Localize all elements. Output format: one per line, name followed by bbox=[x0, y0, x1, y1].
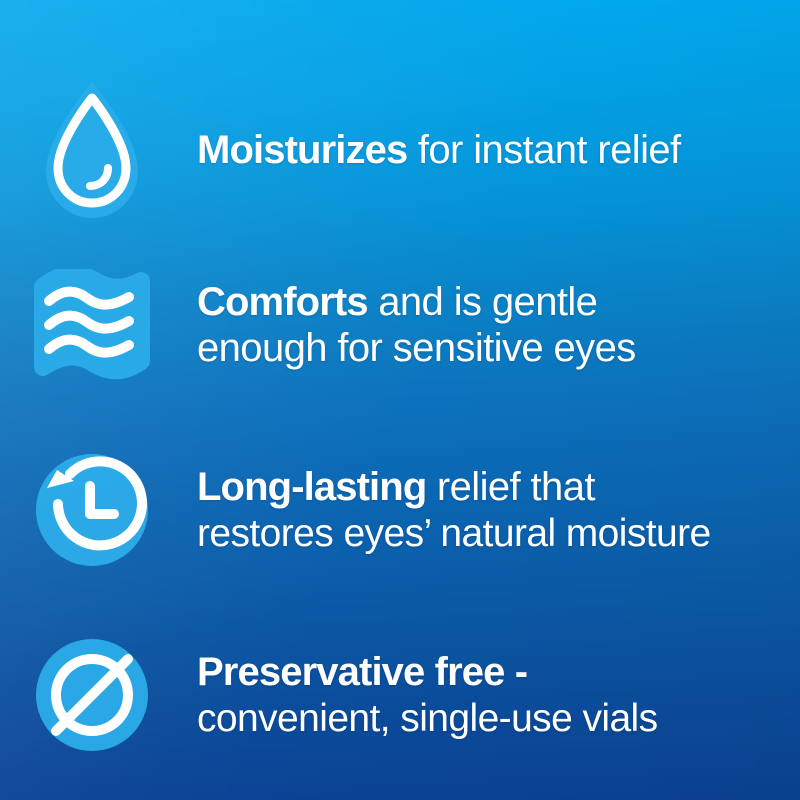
no-preservatives-prohibition-icon bbox=[30, 633, 154, 757]
water-waves-icon bbox=[29, 269, 155, 381]
benefit-line: enough for sensitive eyes bbox=[197, 325, 776, 371]
benefit-row-preservative-free: Preservative free - convenient, single-u… bbox=[0, 615, 800, 775]
benefit-bold-text: Comforts bbox=[197, 280, 368, 324]
benefit-line: restores eyes’ natural moisture bbox=[197, 511, 776, 556]
benefit-row-long-lasting: Long-lasting relief that restores eyes’ … bbox=[0, 430, 800, 590]
benefit-regular-text: enough for sensitive eyes bbox=[197, 326, 636, 370]
benefit-icon-cell bbox=[0, 269, 197, 381]
benefit-line: Long-lasting relief that bbox=[197, 464, 776, 510]
benefit-text-cell: Long-lasting relief that restores eyes’ … bbox=[197, 464, 800, 556]
water-droplet-icon bbox=[30, 76, 154, 224]
benefit-text-cell: Preservative free - convenient, single-u… bbox=[197, 649, 800, 741]
benefit-regular-text: restores eyes’ natural moisture bbox=[197, 512, 711, 555]
benefit-regular-text: and is gentle bbox=[368, 280, 598, 324]
benefits-graphic: Moisturizes for instant relief Comforts … bbox=[0, 0, 800, 800]
benefit-icon-cell bbox=[0, 448, 197, 572]
benefit-line: Preservative free - bbox=[197, 649, 776, 695]
benefit-text-cell: Moisturizes for instant relief bbox=[197, 127, 800, 173]
benefit-text-cell: Comforts and is gentle enough for sensit… bbox=[197, 279, 800, 372]
benefit-bold-text: Long-lasting bbox=[197, 465, 426, 509]
benefit-regular-text: for instant relief bbox=[407, 128, 680, 172]
benefit-bold-text: Moisturizes bbox=[197, 128, 407, 172]
benefit-icon-cell bbox=[0, 76, 197, 224]
benefit-icon-cell bbox=[0, 633, 197, 757]
benefit-line: convenient, single-use vials bbox=[197, 696, 776, 741]
clock-rewind-icon bbox=[30, 448, 154, 572]
benefit-regular-text: relief that bbox=[426, 465, 594, 509]
benefit-line: Moisturizes for instant relief bbox=[197, 127, 776, 173]
benefit-regular-text: convenient, single-use vials bbox=[197, 697, 658, 740]
benefit-row-moisturizes: Moisturizes for instant relief bbox=[0, 60, 800, 240]
benefit-row-comforts: Comforts and is gentle enough for sensit… bbox=[0, 245, 800, 405]
benefit-bold-text: Preservative free - bbox=[197, 650, 527, 694]
benefit-line: Comforts and is gentle bbox=[197, 279, 776, 325]
